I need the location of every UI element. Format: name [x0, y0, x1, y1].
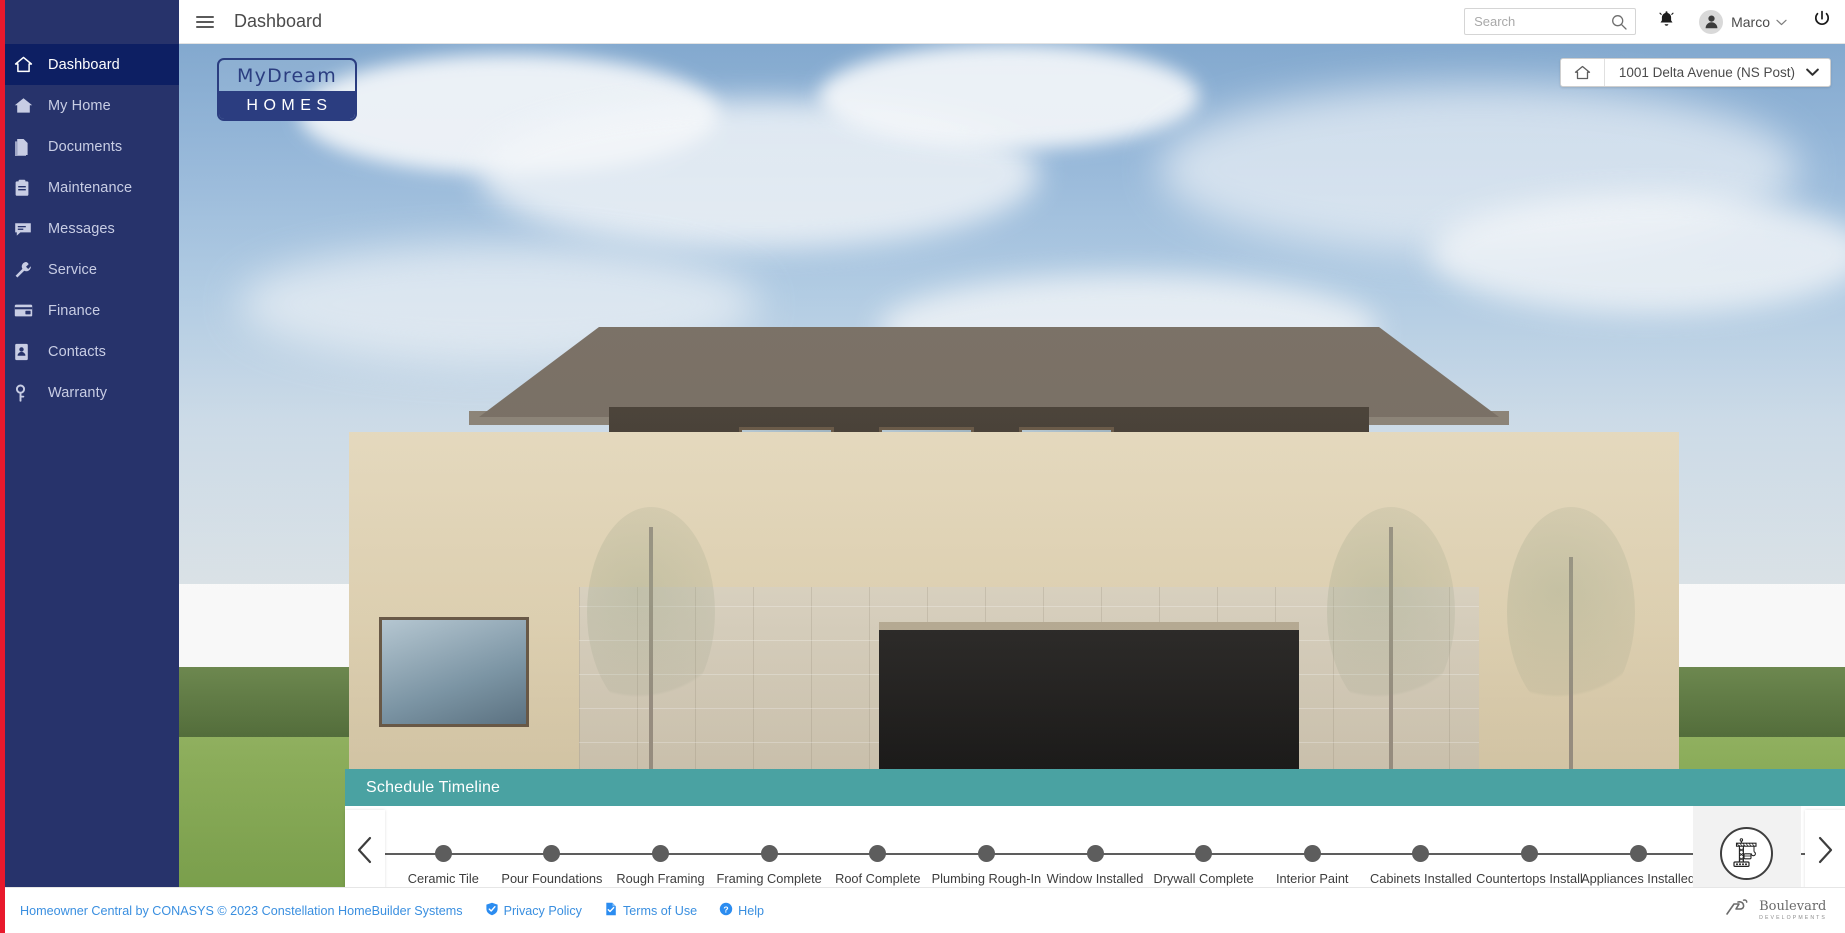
header-actions: Marco	[1464, 8, 1845, 35]
sidebar-item-warranty[interactable]: Warranty	[0, 372, 179, 413]
home-selector-value[interactable]: 1001 Delta Avenue (NS Post)	[1605, 59, 1806, 86]
milestone-dot	[761, 845, 778, 862]
milestone-dot	[435, 845, 452, 862]
document-check-icon	[604, 902, 618, 919]
sidebar-item-label: Dashboard	[48, 57, 120, 73]
timeline-prev-button[interactable]	[345, 810, 385, 894]
house-solid-icon	[14, 97, 44, 114]
developer-logo: Boulevard DEVELOPMENTS	[1725, 898, 1827, 923]
milestone-label: Framing Complete	[717, 871, 822, 888]
milestone-label: Roof Complete	[835, 871, 920, 888]
search-box[interactable]	[1464, 8, 1636, 35]
sidebar-item-label: Contacts	[48, 344, 106, 360]
accent-stripe	[0, 0, 5, 933]
timeline-milestone[interactable]: Cabinets Installed	[1361, 806, 1481, 888]
builder-logo-line2: HOMES	[219, 91, 355, 121]
sidebar-item-my-home[interactable]: My Home	[0, 85, 179, 126]
footer-link-label: Privacy Policy	[504, 904, 582, 918]
milestone-label: Drywall Complete	[1153, 871, 1253, 888]
milestone-dot	[543, 845, 560, 862]
hero-overlay	[179, 44, 1845, 887]
avatar	[1699, 10, 1723, 34]
boulevard-logo-icon	[1725, 898, 1753, 923]
milestone-dot	[869, 845, 886, 862]
notifications-button[interactable]	[1658, 10, 1675, 33]
footer-link-label: Terms of Use	[623, 904, 697, 918]
footer-link-privacy-policy[interactable]: Privacy Policy	[485, 902, 582, 919]
sidebar-item-label: Maintenance	[48, 180, 132, 196]
question-circle-icon: ?	[719, 902, 733, 919]
top-header-bar: Dashboard Marco	[179, 0, 1845, 44]
sidebar-item-finance[interactable]: Finance	[0, 290, 179, 331]
timeline-milestone[interactable]: Framing Complete	[709, 806, 829, 888]
timeline-milestone[interactable]: Roof Complete	[818, 806, 938, 888]
footer-link-help[interactable]: ? Help	[719, 902, 764, 919]
footer-copyright: Homeowner Central by CONASYS © 2023 Cons…	[20, 904, 463, 918]
chat-bubble-icon	[14, 221, 44, 237]
sidebar-item-label: Service	[48, 262, 97, 278]
sidebar-item-service[interactable]: Service	[0, 249, 179, 290]
milestone-dot	[1087, 845, 1104, 862]
milestone-dot	[1630, 845, 1647, 862]
footer-link-terms-of-use[interactable]: Terms of Use	[604, 902, 697, 919]
schedule-timeline-title: Schedule Timeline	[366, 779, 500, 797]
builder-logo-line1: MyDream	[219, 60, 355, 91]
hero-house-photo	[179, 44, 1845, 887]
milestone-dot	[1304, 845, 1321, 862]
credit-card-icon	[14, 303, 44, 318]
home-outline-icon	[14, 56, 44, 73]
builder-logo: MyDream HOMES	[217, 58, 357, 121]
shield-check-icon	[485, 902, 499, 919]
user-menu[interactable]: Marco	[1699, 10, 1787, 34]
search-icon[interactable]	[1611, 14, 1627, 35]
sidebar-item-label: My Home	[48, 98, 111, 114]
sidebar-item-documents[interactable]: Documents	[0, 126, 179, 167]
sidebar-item-label: Messages	[48, 221, 115, 237]
search-input[interactable]	[1474, 10, 1612, 34]
app-root: MyDream HOMES 1001 Delta Avenue (NS Post…	[0, 0, 1845, 933]
timeline-milestone[interactable]: Drywall Complete	[1144, 806, 1264, 888]
sidebar-item-maintenance[interactable]: Maintenance	[0, 167, 179, 208]
sidebar-nav: DashboardMy HomeDocumentsMaintenanceMess…	[0, 0, 179, 933]
crane-excavator-icon	[1720, 827, 1773, 880]
footer-link-label: Help	[738, 904, 764, 918]
timeline-milestone[interactable]: Window Installed	[1035, 806, 1155, 888]
home-selector[interactable]: 1001 Delta Avenue (NS Post)	[1560, 58, 1831, 87]
sidebar-item-messages[interactable]: Messages	[0, 208, 179, 249]
milestone-label: Appliances Installed	[1581, 871, 1695, 888]
svg-text:?: ?	[724, 904, 729, 914]
sidebar-item-list: DashboardMy HomeDocumentsMaintenanceMess…	[0, 44, 179, 413]
hamburger-icon[interactable]	[196, 16, 214, 28]
schedule-timeline-header: Schedule Timeline	[345, 769, 1845, 806]
milestone-dot	[1412, 845, 1429, 862]
milestone-label: Cabinets Installed	[1370, 871, 1472, 888]
developer-tagline: DEVELOPMENTS	[1759, 915, 1827, 921]
key-icon	[14, 384, 44, 402]
milestone-dot	[978, 845, 995, 862]
clipboard-icon	[14, 179, 44, 197]
logout-button[interactable]	[1813, 10, 1831, 33]
milestone-label: Window Installed	[1047, 871, 1144, 888]
bell-icon	[1658, 10, 1675, 33]
user-name: Marco	[1731, 14, 1770, 30]
chevron-left-icon	[355, 835, 375, 870]
timeline-next-button[interactable]	[1805, 810, 1845, 894]
document-icon	[14, 138, 44, 156]
sidebar-item-dashboard[interactable]: Dashboard	[0, 44, 179, 85]
chevron-down-icon[interactable]	[1806, 59, 1830, 86]
page-footer: Homeowner Central by CONASYS © 2023 Cons…	[0, 887, 1845, 933]
sidebar-logo-area	[0, 0, 179, 44]
chevron-down-icon[interactable]	[1776, 13, 1787, 31]
page-title: Dashboard	[234, 11, 322, 32]
hero-banner: MyDream HOMES 1001 Delta Avenue (NS Post…	[179, 44, 1845, 887]
timeline-milestone[interactable]: Appliances Installed	[1578, 806, 1698, 888]
power-icon	[1813, 10, 1831, 33]
contact-card-icon	[14, 343, 44, 361]
milestone-dot	[1521, 845, 1538, 862]
developer-name: Boulevard	[1759, 900, 1826, 913]
home-outline-icon[interactable]	[1561, 59, 1605, 86]
sidebar-item-label: Warranty	[48, 385, 107, 401]
milestone-dot	[1195, 845, 1212, 862]
chevron-right-icon	[1815, 835, 1835, 870]
sidebar-item-label: Documents	[48, 139, 122, 155]
milestone-dot	[652, 845, 669, 862]
sidebar-item-label: Finance	[48, 303, 100, 319]
wrench-icon	[14, 261, 44, 279]
sidebar-item-contacts[interactable]: Contacts	[0, 331, 179, 372]
